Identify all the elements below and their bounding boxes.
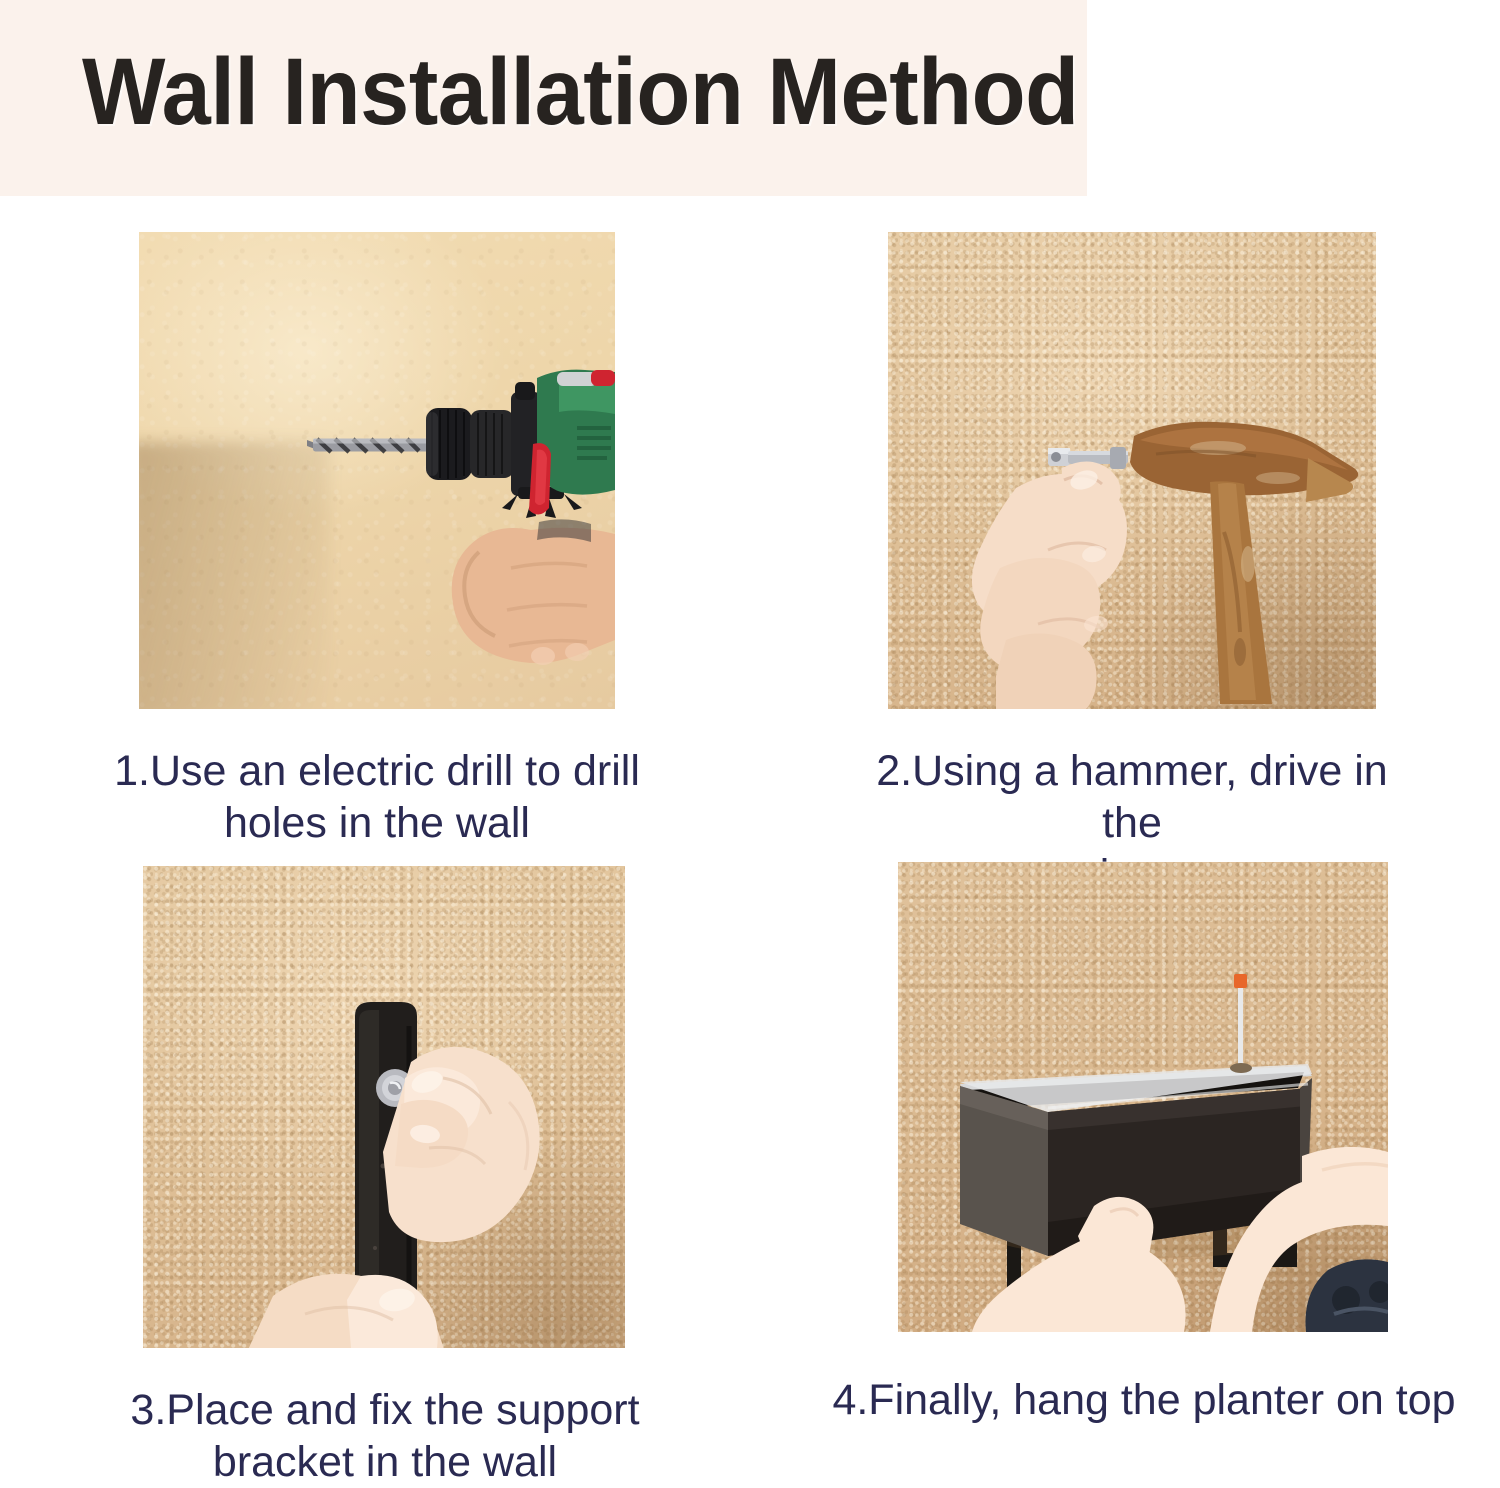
drill-chuck [426, 408, 514, 480]
step-4-photo [898, 862, 1388, 1332]
step-card-3: 3.Place and fix the support bracket in t… [143, 866, 625, 1348]
step-card-1: 1.Use an electric drill to drill holes i… [139, 232, 615, 709]
hammer-handle [1210, 481, 1272, 704]
dark-object-corner [1305, 1259, 1388, 1332]
hammer-and-screw-illustration [888, 232, 1376, 709]
water-level-indicator [1230, 974, 1252, 1073]
drill-bit-icon [307, 439, 429, 453]
page-title: Wall Installation Method [82, 36, 1079, 148]
step-1-caption: 1.Use an electric drill to drill holes i… [64, 745, 690, 849]
step-card-4: 4.Finally, hang the planter on top [898, 862, 1388, 1332]
electric-drill-illustration [139, 232, 615, 709]
step-1-photo [139, 232, 615, 709]
step-3-photo [143, 866, 625, 1348]
step-card-2: 2.Using a hammer, drive in the expansion… [888, 232, 1376, 709]
hand-gripping-drill [452, 519, 615, 665]
step-4-caption: 4.Finally, hang the planter on top [808, 1374, 1480, 1426]
planter-hanging-illustration [898, 862, 1388, 1332]
hand-holding-screw [972, 461, 1127, 709]
step-2-photo [888, 232, 1376, 709]
support-bracket-illustration [143, 866, 625, 1348]
step-3-caption: 3.Place and fix the support bracket in t… [75, 1384, 695, 1488]
header-band: Wall Installation Method [0, 0, 1087, 196]
